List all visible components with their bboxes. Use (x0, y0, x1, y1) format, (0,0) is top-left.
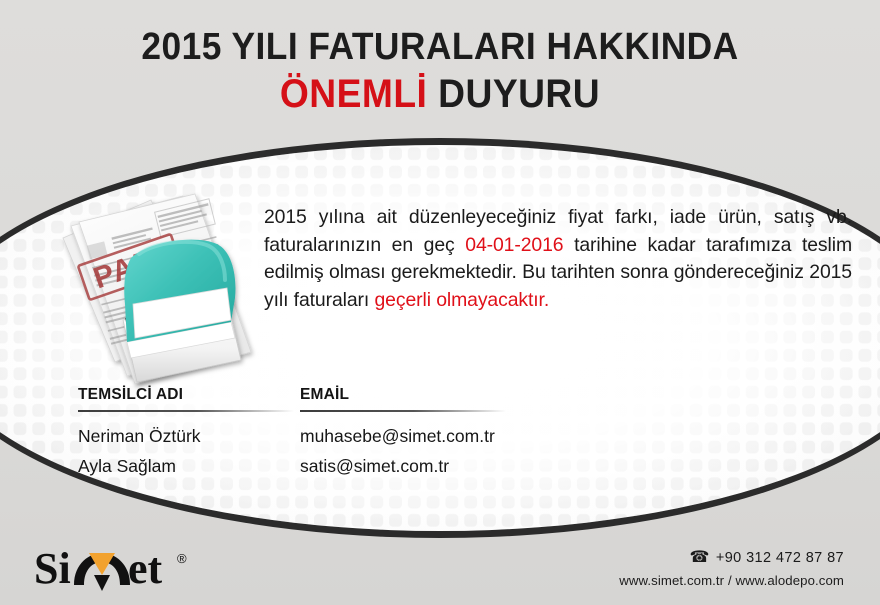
announcement-deadline-date: 04-01-2016 (465, 234, 563, 256)
contacts-table: TEMSİLCİ ADI EMAİL Neriman Öztürk muhase… (78, 386, 618, 481)
table-row: Ayla Sağlam satis@simet.com.tr (78, 451, 618, 481)
announcement-text: 2015 yılına ait düzenleyeceğiniz fiyat f… (264, 204, 852, 314)
contacts-header-row: TEMSİLCİ ADI EMAİL (78, 386, 618, 421)
invoice-stamp-graphic: PAID (55, 192, 260, 392)
logo-text-pre: Si (34, 545, 71, 593)
title-line-2: ÖNEMLİ DUYURU (31, 72, 849, 116)
phone-icon: ☎ (690, 550, 710, 566)
footer-contact: ☎ +90 312 472 87 87 www.simet.com.tr / w… (619, 550, 844, 588)
table-row: Neriman Öztürk muhasebe@simet.com.tr (78, 421, 618, 451)
logo-pointer (94, 575, 110, 591)
announcement-part-3: geçerli olmayacaktır. (374, 289, 549, 311)
page-title: 2015 YILI FATURALARI HAKKINDA ÖNEMLİ DUY… (0, 28, 880, 116)
simet-logo-mark: Si et ® (34, 545, 204, 597)
logo-registered-mark: ® (177, 551, 187, 566)
phone-row: ☎ +90 312 472 87 87 (619, 550, 844, 566)
contact-email[interactable]: satis@simet.com.tr (300, 451, 600, 481)
title-rest: DUYURU (427, 72, 600, 116)
header-rule-representative (78, 410, 294, 412)
simet-logo[interactable]: Si et ® (34, 545, 204, 593)
announcement-poster: 2015 YILI FATURALARI HAKKINDA ÖNEMLİ DUY… (0, 0, 880, 605)
invoice-stamp-illustration: PAID (55, 192, 260, 392)
title-emphasis: ÖNEMLİ (280, 72, 427, 116)
column-header-representative: TEMSİLCİ ADI (78, 386, 300, 410)
column-header-email: EMAİL (300, 386, 600, 410)
website-links[interactable]: www.simet.com.tr / www.alodepo.com (619, 573, 844, 588)
phone-number[interactable]: +90 312 472 87 87 (716, 550, 844, 566)
self-inking-stamp (123, 240, 241, 382)
contact-email[interactable]: muhasebe@simet.com.tr (300, 421, 600, 451)
contact-name: Neriman Öztürk (78, 421, 300, 451)
title-line-1: 2015 YILI FATURALARI HAKKINDA (31, 28, 849, 68)
header-rule-email (300, 410, 506, 412)
logo-text-post: et (128, 545, 163, 593)
contact-name: Ayla Sağlam (78, 451, 300, 481)
